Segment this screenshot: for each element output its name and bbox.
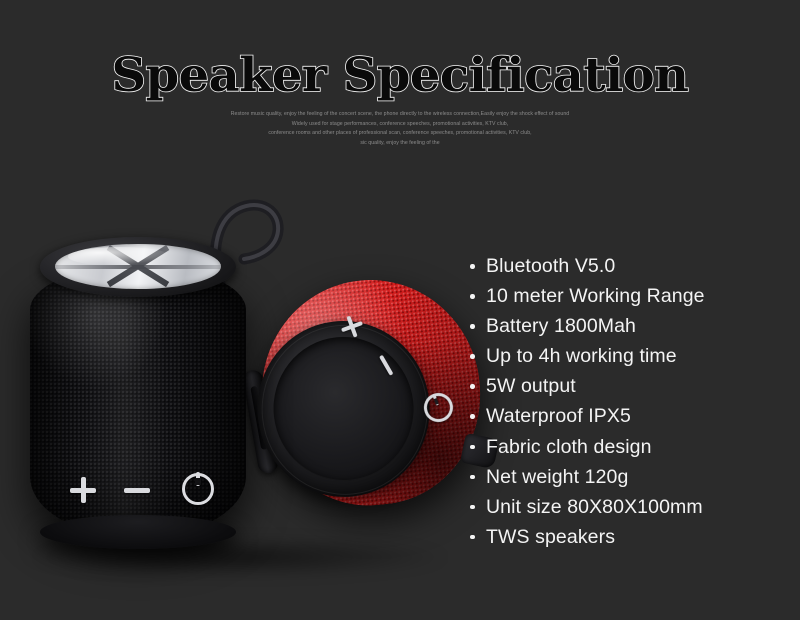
list-item: TWS speakers — [466, 522, 796, 552]
list-item: 10 meter Working Range — [466, 281, 796, 311]
volume-up-icon — [70, 477, 96, 503]
specification-list: Bluetooth V5.0 10 meter Working Range Ba… — [466, 251, 796, 552]
black-speaker-top-plate — [40, 237, 236, 297]
list-item: Net weight 120g — [466, 462, 796, 492]
black-speaker-top-face — [55, 244, 221, 289]
page-title: Speaker Specification — [0, 50, 800, 102]
marketing-blurb: Restore music quality, enjoy the feeling… — [100, 110, 700, 148]
list-item: Battery 1800Mah — [466, 311, 796, 341]
black-speaker-bottom-rim — [40, 515, 236, 549]
power-icon — [182, 473, 214, 505]
blurb-line-1: Restore music quality, enjoy the feeling… — [100, 110, 700, 120]
list-item: Bluetooth V5.0 — [466, 251, 796, 281]
list-item: Unit size 80X80X100mm — [466, 492, 796, 522]
blurb-line-3: conference rooms and other places of pro… — [100, 129, 700, 139]
volume-down-icon — [124, 477, 150, 503]
product-photo — [0, 185, 470, 585]
top-face-highlight — [68, 247, 171, 266]
red-bluetooth-speaker — [251, 269, 491, 516]
list-item: 5W output — [466, 371, 796, 401]
list-item: Waterproof IPX5 — [466, 401, 796, 431]
list-item: Fabric cloth design — [466, 432, 796, 462]
blurb-line-4: sic quality, enjoy the feeling of the — [100, 139, 700, 149]
product-spec-banner: Speaker Specification Restore music qual… — [0, 0, 800, 620]
blurb-line-2: Widely used for stage performances, conf… — [100, 120, 700, 130]
list-item: Up to 4h working time — [466, 341, 796, 371]
black-bluetooth-speaker — [22, 215, 252, 545]
